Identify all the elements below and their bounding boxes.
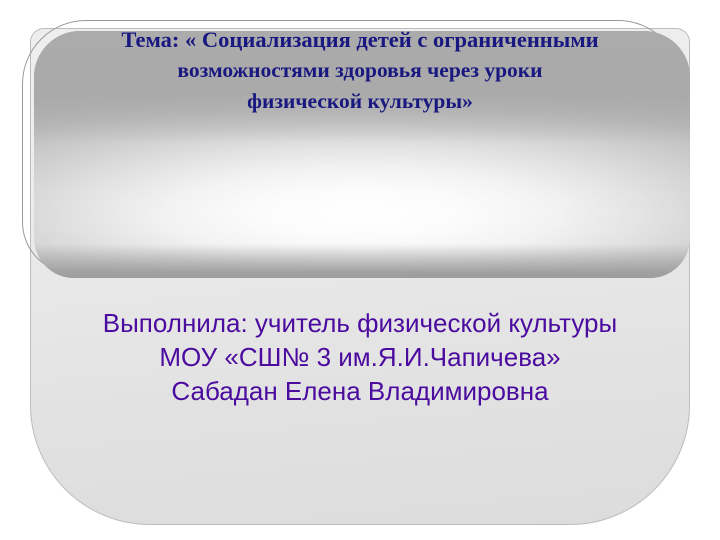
slide-title-line-3: физической культуры» bbox=[22, 86, 698, 117]
slide-title: Тема: « Социализация детей с ограниченны… bbox=[0, 24, 720, 117]
slide-subtitle-line-1: Выполнила: учитель физической культуры bbox=[30, 306, 690, 340]
slide-subtitle: Выполнила: учитель физической культуры М… bbox=[30, 306, 690, 408]
title-slide: Тема: « Социализация детей с ограниченны… bbox=[0, 0, 720, 540]
slide-title-line-2: возможностями здоровья через уроки bbox=[22, 55, 698, 86]
slide-subtitle-line-3: Сабадан Елена Владимировна bbox=[30, 374, 690, 408]
slide-title-line-1: Тема: « Социализация детей с ограниченны… bbox=[22, 24, 698, 55]
slide-subtitle-line-2: МОУ «СШ№ 3 им.Я.И.Чапичева» bbox=[30, 340, 690, 374]
